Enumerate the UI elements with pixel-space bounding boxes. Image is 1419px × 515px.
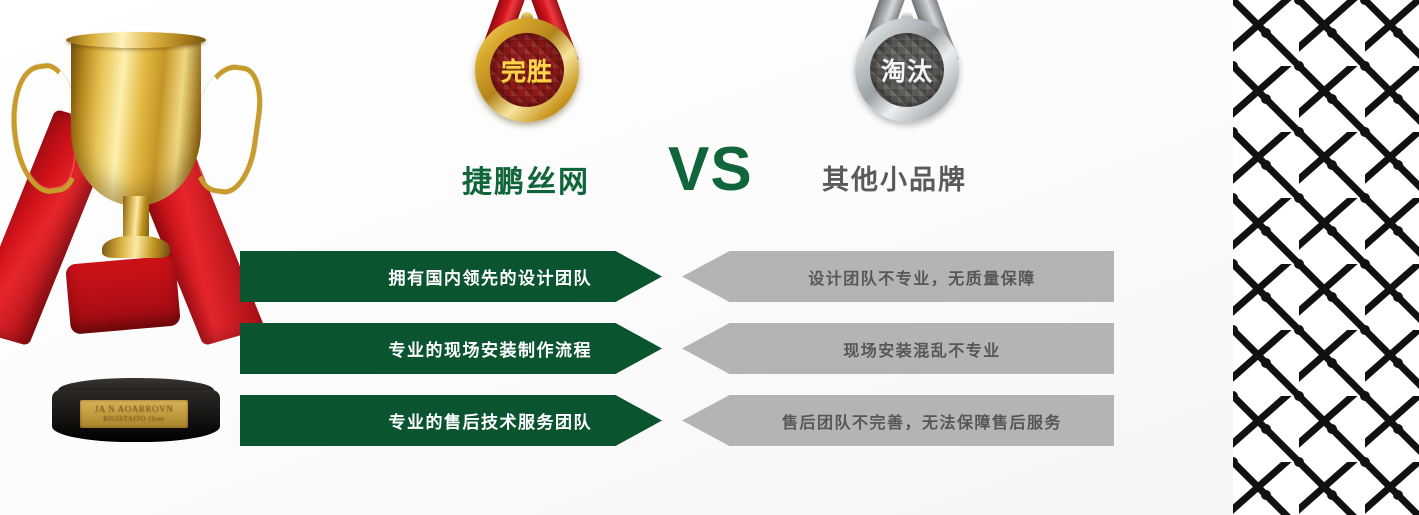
- comparison-banner: JA N AOARROVN RIUISTAITO 1Ioer 完胜 淘汰 捷鹏丝…: [0, 0, 1419, 515]
- comparison-row: 专业的售后技术服务团队 售后团队不完善，无法保障售后服务: [0, 395, 1419, 446]
- advantage-text-3: 专业的售后技术服务团队: [389, 408, 593, 433]
- trophy-cup: [58, 36, 213, 271]
- silver-medal: 淘汰: [823, 0, 993, 130]
- silver-medal-face: 淘汰: [870, 33, 944, 107]
- gold-medal-disc: 完胜: [475, 18, 579, 122]
- gold-medal-label: 完胜: [501, 52, 553, 88]
- disadvantage-banner-1: 设计团队不专业，无质量保障: [682, 251, 1114, 302]
- silver-medal-disc: 淘汰: [855, 18, 959, 122]
- advantage-arrow-2: 专业的现场安装制作流程: [240, 323, 662, 374]
- gold-medal: 完胜: [443, 0, 613, 130]
- comparison-row: 专业的现场安装制作流程 现场安装混乱不专业: [0, 323, 1419, 374]
- disadvantage-banner-3: 售后团队不完善，无法保障售后服务: [682, 395, 1114, 446]
- headline-row: 捷鹏丝网 VS 其他小品牌: [440, 143, 1000, 213]
- advantage-text-2: 专业的现场安装制作流程: [389, 336, 593, 361]
- our-brand-name: 捷鹏丝网: [462, 157, 590, 201]
- other-brand-name: 其他小品牌: [822, 158, 967, 197]
- disadvantage-text-1: 设计团队不专业，无质量保障: [808, 265, 1036, 289]
- gold-medal-face: 完胜: [490, 33, 564, 107]
- comparison-row: 拥有国内领先的设计团队 设计团队不专业，无质量保障: [0, 251, 1419, 302]
- advantage-arrow-3: 专业的售后技术服务团队: [240, 395, 662, 446]
- trophy-bowl: [71, 36, 201, 206]
- trophy-rim: [66, 32, 206, 48]
- advantage-arrow-1: 拥有国内领先的设计团队: [240, 251, 662, 302]
- disadvantage-banner-2: 现场安装混乱不专业: [682, 323, 1114, 374]
- chain-link-fence-icon: [1233, 0, 1419, 515]
- chain-link-fence-image: [1233, 0, 1419, 515]
- advantage-text-1: 拥有国内领先的设计团队: [389, 264, 593, 289]
- disadvantage-text-2: 现场安装混乱不专业: [843, 337, 1001, 361]
- vs-label: VS: [668, 139, 753, 201]
- comparison-rows: 拥有国内领先的设计团队 设计团队不专业，无质量保障 专业的现场安装制作流程 现场…: [0, 251, 1419, 467]
- silver-medal-label: 淘汰: [881, 52, 933, 88]
- disadvantage-text-3: 售后团队不完善，无法保障售后服务: [782, 409, 1062, 433]
